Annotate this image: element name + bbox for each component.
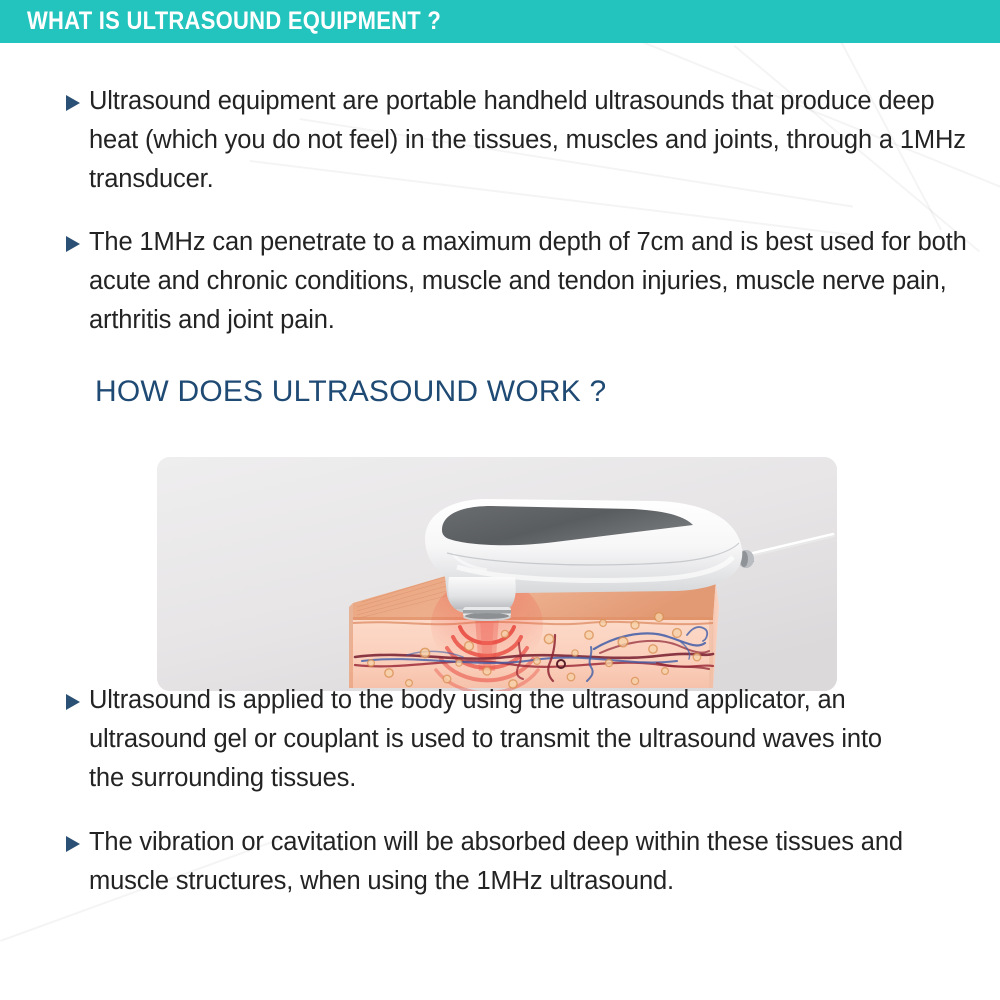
bullet-item: The vibration or cavitation will be abso… xyxy=(0,823,1000,901)
page-header-banner: WHAT IS ULTRASOUND EQUIPMENT ? xyxy=(0,0,1000,43)
bullet-item: Ultrasound is applied to the body using … xyxy=(0,681,1000,798)
triangle-right-bullet-icon xyxy=(63,93,89,113)
triangle-right-bullet-icon xyxy=(63,692,89,712)
section-heading-how-does-ultrasound-work: HOW DOES ULTRASOUND WORK ? xyxy=(95,377,1000,407)
article-content: Ultrasound equipment are portable handhe… xyxy=(0,43,1000,901)
bullet-text: The vibration or cavitation will be abso… xyxy=(89,823,1000,901)
bullet-text: Ultrasound equipment are portable handhe… xyxy=(89,82,1000,199)
triangle-right-bullet-icon xyxy=(63,834,89,854)
bullet-text: The 1MHz can penetrate to a maximum dept… xyxy=(89,223,1000,340)
triangle-right-bullet-icon xyxy=(63,234,89,254)
bullet-text: Ultrasound is applied to the body using … xyxy=(89,681,1000,798)
illustration-spacer xyxy=(0,407,1000,679)
bullet-item: Ultrasound equipment are portable handhe… xyxy=(0,82,1000,199)
bullet-item: The 1MHz can penetrate to a maximum dept… xyxy=(0,223,1000,340)
page-title: WHAT IS ULTRASOUND EQUIPMENT ? xyxy=(27,9,441,34)
